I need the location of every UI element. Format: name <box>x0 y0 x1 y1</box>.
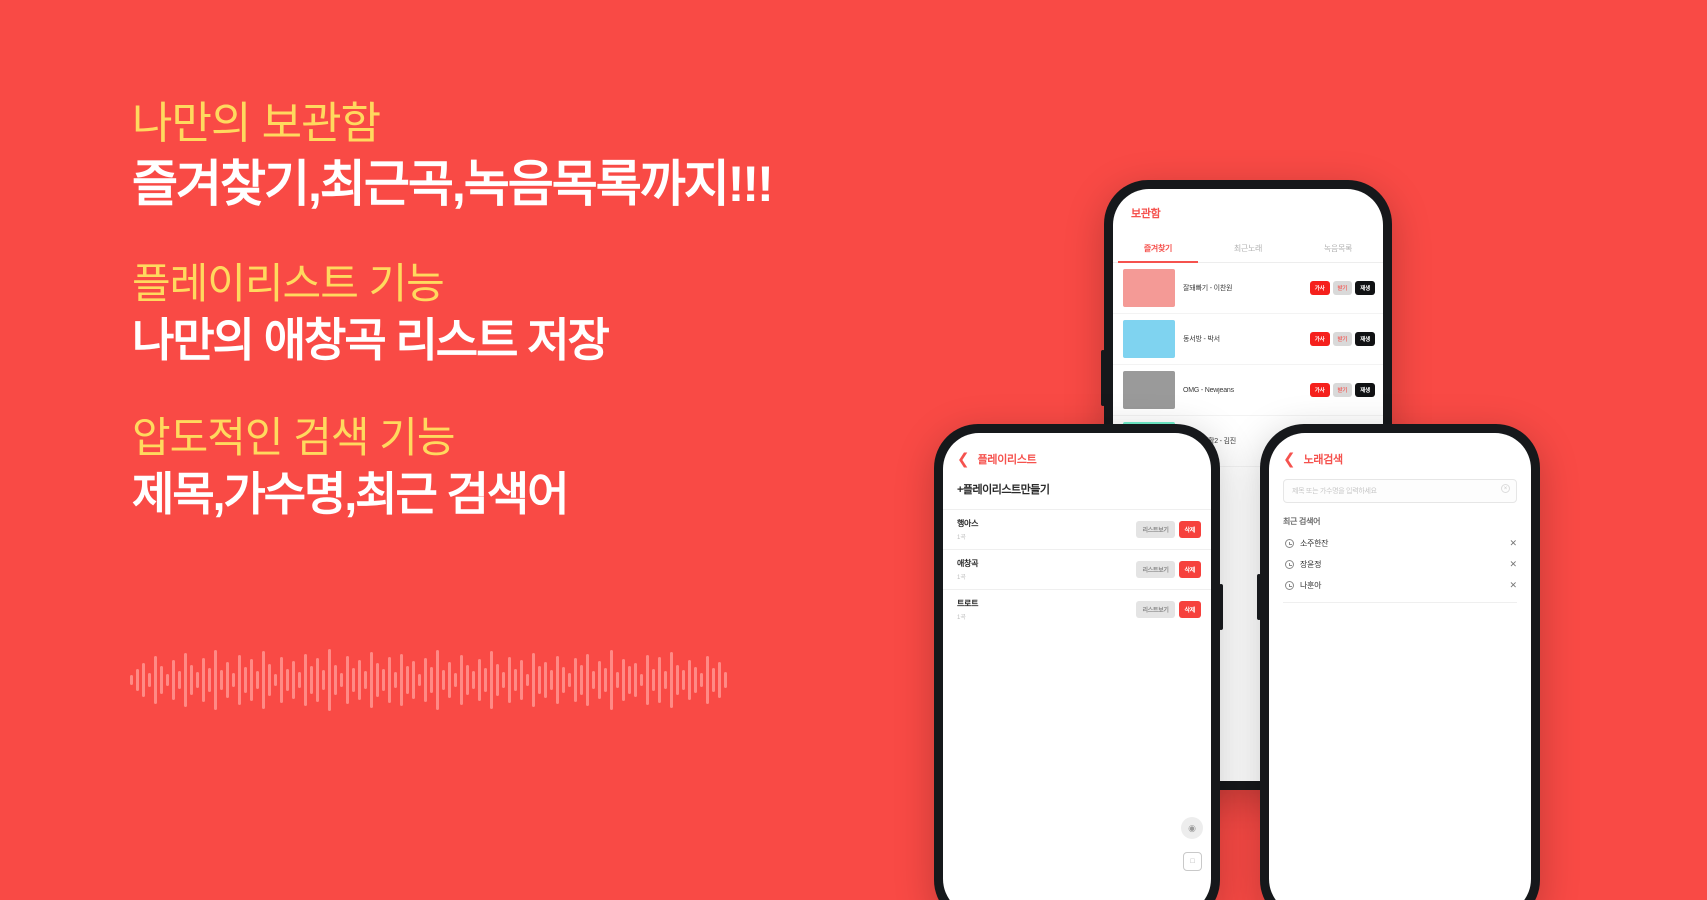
square-icon[interactable]: □ <box>1183 852 1202 871</box>
view-list-button[interactable]: 리스트보기 <box>1136 601 1174 618</box>
phone-mockups: 보관함 즐겨찾기최근노래녹음목록 잘돼빠기 - 이찬원가사받기재생동서방 - 박… <box>0 0 1707 900</box>
song-action-button[interactable]: 가사 <box>1310 383 1330 397</box>
song-title: 동서방 - 박서 <box>1183 334 1302 344</box>
search-header: ❮ 노래검색 <box>1269 433 1531 467</box>
playlist-row-text: 애창곡1곡 <box>957 558 1136 581</box>
phone-side-button <box>1219 584 1223 630</box>
close-icon[interactable]: ✕ <box>1509 560 1517 569</box>
close-icon[interactable]: ✕ <box>1509 581 1517 590</box>
playlist-list: 행아스1곡리스트보기삭제애창곡1곡리스트보기삭제트로트1곡리스트보기삭제 <box>943 509 1211 629</box>
playlist-name: 행아스 <box>957 518 1136 529</box>
song-action-button[interactable]: 받기 <box>1333 383 1353 397</box>
search-title: 노래검색 <box>1304 451 1343 467</box>
library-song-row[interactable]: 동서방 - 박서가사받기재생 <box>1113 314 1383 365</box>
song-action-button[interactable]: 받기 <box>1333 332 1353 346</box>
search-input-wrapper: × <box>1269 467 1531 503</box>
playlist-song-count: 1곡 <box>957 532 1136 541</box>
delete-button[interactable]: 삭제 <box>1179 521 1201 538</box>
library-tab-1[interactable]: 최근노래 <box>1203 237 1293 262</box>
recent-searches-label: 최근 검색어 <box>1269 503 1531 533</box>
song-thumbnail <box>1123 371 1175 409</box>
playlist-row[interactable]: 행아스1곡리스트보기삭제 <box>943 509 1211 549</box>
recent-searches-list: 소주한잔✕장윤정✕나훈아✕ <box>1269 533 1531 603</box>
song-thumbnail <box>1123 320 1175 358</box>
playlist-row[interactable]: 애창곡1곡리스트보기삭제 <box>943 549 1211 589</box>
search-input[interactable] <box>1283 479 1517 503</box>
library-song-row[interactable]: 잘돼빠기 - 이찬원가사받기재생 <box>1113 263 1383 314</box>
playlist-header: ❮ 플레이리스트 <box>943 433 1211 467</box>
recent-search-row[interactable]: 소주한잔✕ <box>1269 533 1531 554</box>
clock-icon <box>1285 560 1294 569</box>
song-action-button[interactable]: 재생 <box>1355 383 1375 397</box>
song-actions: 가사받기재생 <box>1310 383 1375 397</box>
playlist-row-text: 행아스1곡 <box>957 518 1136 541</box>
playlist-name: 트로트 <box>957 598 1136 609</box>
clock-icon <box>1285 581 1294 590</box>
playlist-song-count: 1곡 <box>957 572 1136 581</box>
library-tab-2[interactable]: 녹음목록 <box>1293 237 1383 262</box>
library-title: 보관함 <box>1113 189 1383 221</box>
playlist-actions: 리스트보기삭제 <box>1136 561 1201 578</box>
recent-search-term: 나훈아 <box>1300 580 1503 591</box>
song-thumbnail <box>1123 269 1175 307</box>
clear-circle-icon[interactable]: × <box>1501 484 1510 493</box>
recent-search-row[interactable]: 장윤정✕ <box>1269 554 1531 575</box>
divider <box>1283 602 1517 603</box>
song-action-button[interactable]: 가사 <box>1310 281 1330 295</box>
library-song-row[interactable]: OMG - Newjeans가사받기재생 <box>1113 365 1383 416</box>
playlist-title: 플레이리스트 <box>978 451 1037 467</box>
close-icon[interactable]: ✕ <box>1509 539 1517 548</box>
phone-playlist: ❮ 플레이리스트 +플레이리스트만들기 행아스1곡리스트보기삭제애창곡1곡리스트… <box>934 424 1220 900</box>
mic-icon[interactable]: ◉ <box>1181 817 1203 839</box>
playlist-row-text: 트로트1곡 <box>957 598 1136 621</box>
search-screen: ❮ 노래검색 × 최근 검색어 소주한잔✕장윤정✕나훈아✕ <box>1269 433 1531 900</box>
playlist-name: 애창곡 <box>957 558 1136 569</box>
song-actions: 가사받기재생 <box>1310 332 1375 346</box>
playlist-song-count: 1곡 <box>957 612 1136 621</box>
playlist-screen: ❮ 플레이리스트 +플레이리스트만들기 행아스1곡리스트보기삭제애창곡1곡리스트… <box>943 433 1211 900</box>
song-action-button[interactable]: 받기 <box>1333 281 1353 295</box>
view-list-button[interactable]: 리스트보기 <box>1136 521 1174 538</box>
library-tabs: 즐겨찾기최근노래녹음목록 <box>1113 237 1383 263</box>
playlist-row[interactable]: 트로트1곡리스트보기삭제 <box>943 589 1211 629</box>
chevron-left-icon[interactable]: ❮ <box>957 452 970 467</box>
delete-button[interactable]: 삭제 <box>1179 561 1201 578</box>
recent-search-row[interactable]: 나훈아✕ <box>1269 575 1531 596</box>
song-action-button[interactable]: 재생 <box>1355 281 1375 295</box>
song-title: 잘돼빠기 - 이찬원 <box>1183 283 1302 293</box>
delete-button[interactable]: 삭제 <box>1179 601 1201 618</box>
playlist-actions: 리스트보기삭제 <box>1136 521 1201 538</box>
playlist-actions: 리스트보기삭제 <box>1136 601 1201 618</box>
song-title: OMG - Newjeans <box>1183 387 1302 394</box>
clock-icon <box>1285 539 1294 548</box>
phone-search: ❮ 노래검색 × 최근 검색어 소주한잔✕장윤정✕나훈아✕ <box>1260 424 1540 900</box>
create-playlist-button[interactable]: +플레이리스트만들기 <box>943 467 1211 509</box>
song-actions: 가사받기재생 <box>1310 281 1375 295</box>
view-list-button[interactable]: 리스트보기 <box>1136 561 1174 578</box>
recent-search-term: 소주한잔 <box>1300 538 1503 549</box>
chevron-left-icon[interactable]: ❮ <box>1283 452 1296 467</box>
library-tab-0[interactable]: 즐겨찾기 <box>1113 237 1203 262</box>
phone-side-button <box>1101 350 1105 406</box>
song-action-button[interactable]: 가사 <box>1310 332 1330 346</box>
recent-search-term: 장윤정 <box>1300 559 1503 570</box>
song-action-button[interactable]: 재생 <box>1355 332 1375 346</box>
phone-side-button <box>1257 574 1261 620</box>
